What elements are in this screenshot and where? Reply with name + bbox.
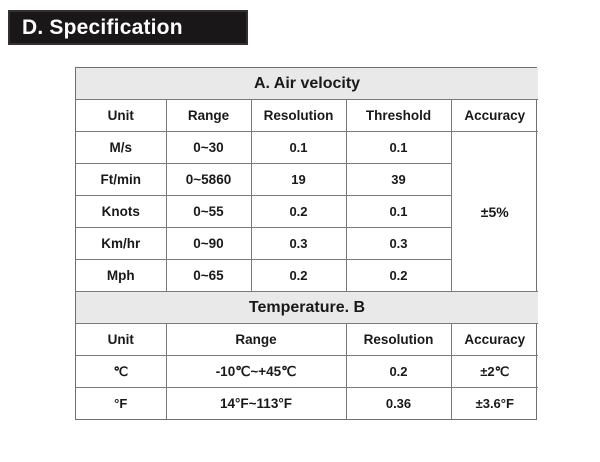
cell-resolution: 0.2 xyxy=(251,196,346,228)
cell-accuracy-air-velocity: ±5% xyxy=(451,132,538,292)
cell-resolution: 0.2 xyxy=(346,356,451,388)
cell-threshold: 0.1 xyxy=(346,132,451,164)
cell-range: -10℃~+45℃ xyxy=(166,356,346,388)
specification-table: A. Air velocity Unit Range Resolution Th… xyxy=(76,68,538,419)
column-header-accuracy: Accuracy xyxy=(451,324,538,356)
column-header-resolution: Resolution xyxy=(251,100,346,132)
cell-threshold: 39 xyxy=(346,164,451,196)
cell-unit: ℃ xyxy=(76,356,166,388)
cell-accuracy: ±2℃ xyxy=(451,356,538,388)
cell-resolution: 0.2 xyxy=(251,260,346,292)
cell-threshold: 0.3 xyxy=(346,228,451,260)
cell-resolution: 0.1 xyxy=(251,132,346,164)
column-header-unit: Unit xyxy=(76,100,166,132)
section-header-air-velocity-label: A. Air velocity xyxy=(76,68,538,100)
cell-range: 0~5860 xyxy=(166,164,251,196)
column-header-resolution: Resolution xyxy=(346,324,451,356)
column-header-row-air-velocity: Unit Range Resolution Threshold Accuracy xyxy=(76,100,538,132)
page-title: D. Specification xyxy=(22,17,183,38)
cell-range: 0~65 xyxy=(166,260,251,292)
cell-unit: Ft/min xyxy=(76,164,166,196)
cell-resolution: 19 xyxy=(251,164,346,196)
cell-resolution: 0.3 xyxy=(251,228,346,260)
column-header-row-temperature: Unit Range Resolution Accuracy xyxy=(76,324,538,356)
column-header-range: Range xyxy=(166,100,251,132)
cell-threshold: 0.2 xyxy=(346,260,451,292)
cell-resolution: 0.36 xyxy=(346,388,451,420)
cell-range: 0~55 xyxy=(166,196,251,228)
column-header-unit: Unit xyxy=(76,324,166,356)
specification-table-container: A. Air velocity Unit Range Resolution Th… xyxy=(75,67,537,420)
table-row: °F 14°F~113°F 0.36 ±3.6°F xyxy=(76,388,538,420)
cell-accuracy: ±3.6°F xyxy=(451,388,538,420)
cell-range: 0~90 xyxy=(166,228,251,260)
cell-range: 0~30 xyxy=(166,132,251,164)
section-header-temperature-label: Temperature. B xyxy=(76,292,538,324)
cell-unit: M/s xyxy=(76,132,166,164)
cell-range: 14°F~113°F xyxy=(166,388,346,420)
table-row: ℃ -10℃~+45℃ 0.2 ±2℃ xyxy=(76,356,538,388)
table-row: M/s 0~30 0.1 0.1 ±5% xyxy=(76,132,538,164)
page-title-bar: D. Specification xyxy=(8,10,248,45)
column-header-range: Range xyxy=(166,324,346,356)
cell-unit: °F xyxy=(76,388,166,420)
cell-unit: Km/hr xyxy=(76,228,166,260)
section-header-air-velocity: A. Air velocity xyxy=(76,68,538,100)
section-header-temperature: Temperature. B xyxy=(76,292,538,324)
cell-unit: Knots xyxy=(76,196,166,228)
cell-unit: Mph xyxy=(76,260,166,292)
cell-threshold: 0.1 xyxy=(346,196,451,228)
column-header-threshold: Threshold xyxy=(346,100,451,132)
column-header-accuracy: Accuracy xyxy=(451,100,538,132)
